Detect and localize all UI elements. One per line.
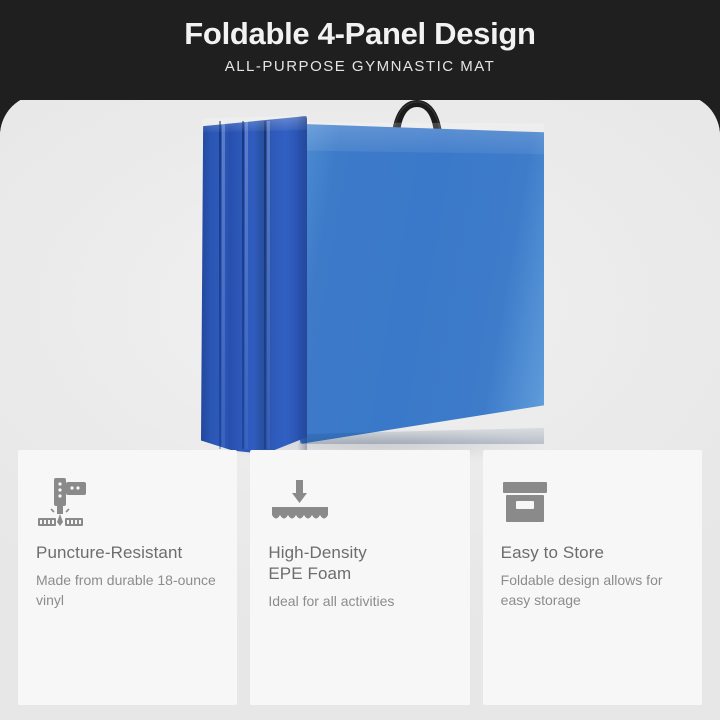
feature-description: Ideal for all activities [268,584,451,611]
feature-card-high-density-foam: High-Density EPE Foam Ideal for all acti… [250,450,469,705]
panel-seam-highlight [267,121,270,449]
feature-card-list: Puncture-Resistant Made from durable 18-… [0,450,720,720]
feature-title: Puncture-Resistant [36,542,219,563]
mat-folded-panels [201,116,307,454]
puncture-drill-icon [36,476,219,528]
product-feature-infographic: Foldable 4-Panel Design ALL-PURPOSE GYMN… [0,0,720,720]
mat-fold-inner-edge [297,116,307,454]
mat-front-face [300,122,544,444]
feature-title: Easy to Store [501,542,684,563]
feature-title: High-Density EPE Foam [268,542,451,584]
mat-face-surface [300,122,544,444]
panel-seam [219,121,221,449]
feature-card-easy-to-store: Easy to Store Foldable design allows for… [483,450,702,705]
page-title: Foldable 4-Panel Design [0,0,720,54]
panel-seam-highlight [222,121,225,449]
panel-seam [242,121,244,449]
storage-box-icon [501,476,684,528]
panel-seam [264,121,266,449]
feature-description: Foldable design allows for easy storage [501,563,684,610]
page-subtitle: ALL-PURPOSE GYMNASTIC MAT [0,54,720,77]
product-stage: Puncture-Resistant Made from durable 18-… [0,94,720,720]
panel-seam-highlight [245,121,248,449]
feature-card-puncture-resistant: Puncture-Resistant Made from durable 18-… [18,450,237,705]
header-banner: Foldable 4-Panel Design ALL-PURPOSE GYMN… [0,0,720,100]
foam-compression-icon [268,476,451,528]
feature-description: Made from durable 18-ounce vinyl [36,563,219,610]
mat-fold-surface [201,116,307,454]
